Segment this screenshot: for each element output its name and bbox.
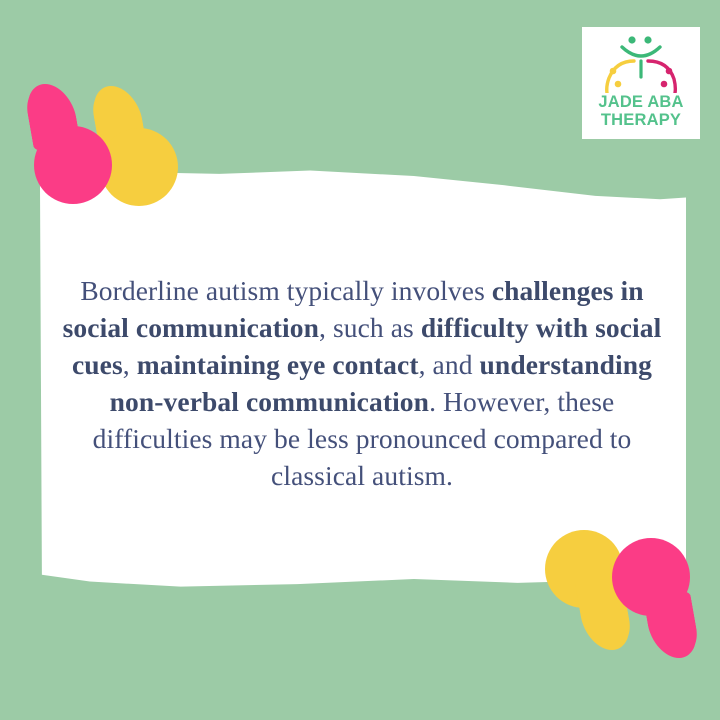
quote-segment: ,	[123, 349, 137, 380]
quote-text: Borderline autism typically involves cha…	[62, 272, 662, 494]
opening-quote-pink-icon	[34, 84, 112, 204]
quote-segment: maintaining eye contact	[137, 349, 419, 380]
logo-wordmark: JADE ABA THERAPY	[582, 93, 700, 129]
logo-wordmark-line1: JADE ABA	[582, 93, 700, 111]
quote-tail	[642, 592, 702, 658]
logo: JADE ABA THERAPY	[582, 27, 700, 139]
closing-quote-pink-icon	[612, 538, 690, 658]
quote-segment: , and	[419, 349, 480, 380]
quote-segment: Borderline autism typically involves	[80, 275, 492, 306]
quote-bowl	[34, 126, 112, 204]
quote-segment: , such as	[319, 312, 421, 343]
jade-aba-figure-icon	[582, 31, 700, 93]
poster-canvas: Borderline autism typically involves cha…	[0, 0, 720, 720]
logo-wordmark-line2: THERAPY	[582, 111, 700, 129]
